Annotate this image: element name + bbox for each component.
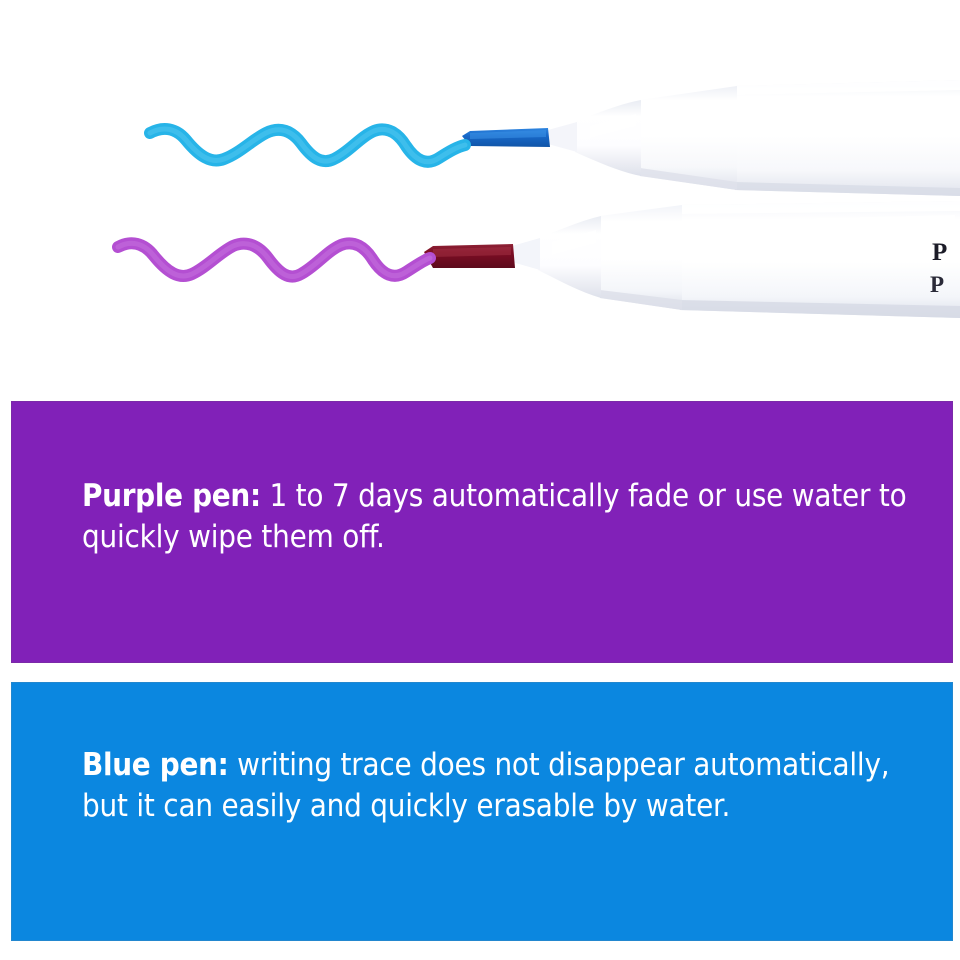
barrel-text-line-1: P: [932, 239, 947, 266]
product-photo-illustration: P P: [0, 0, 960, 392]
purple-pen-lead-label: Purple pen:: [82, 478, 261, 514]
blue-pen-panel: Blue pen: writing trace does not disappe…: [11, 682, 953, 941]
blue-pen-description: Blue pen: writing trace does not disappe…: [82, 745, 908, 827]
page-root: P P Purple pen: 1 to 7 days automaticall…: [0, 0, 960, 960]
blue-pen-lead-label: Blue pen:: [82, 747, 229, 783]
purple-pen-panel: Purple pen: 1 to 7 days automatically fa…: [11, 401, 953, 663]
barrel-text-line-2: P: [930, 272, 944, 297]
product-photo: P P: [0, 0, 960, 392]
purple-pen-description: Purple pen: 1 to 7 days automatically fa…: [82, 476, 908, 558]
